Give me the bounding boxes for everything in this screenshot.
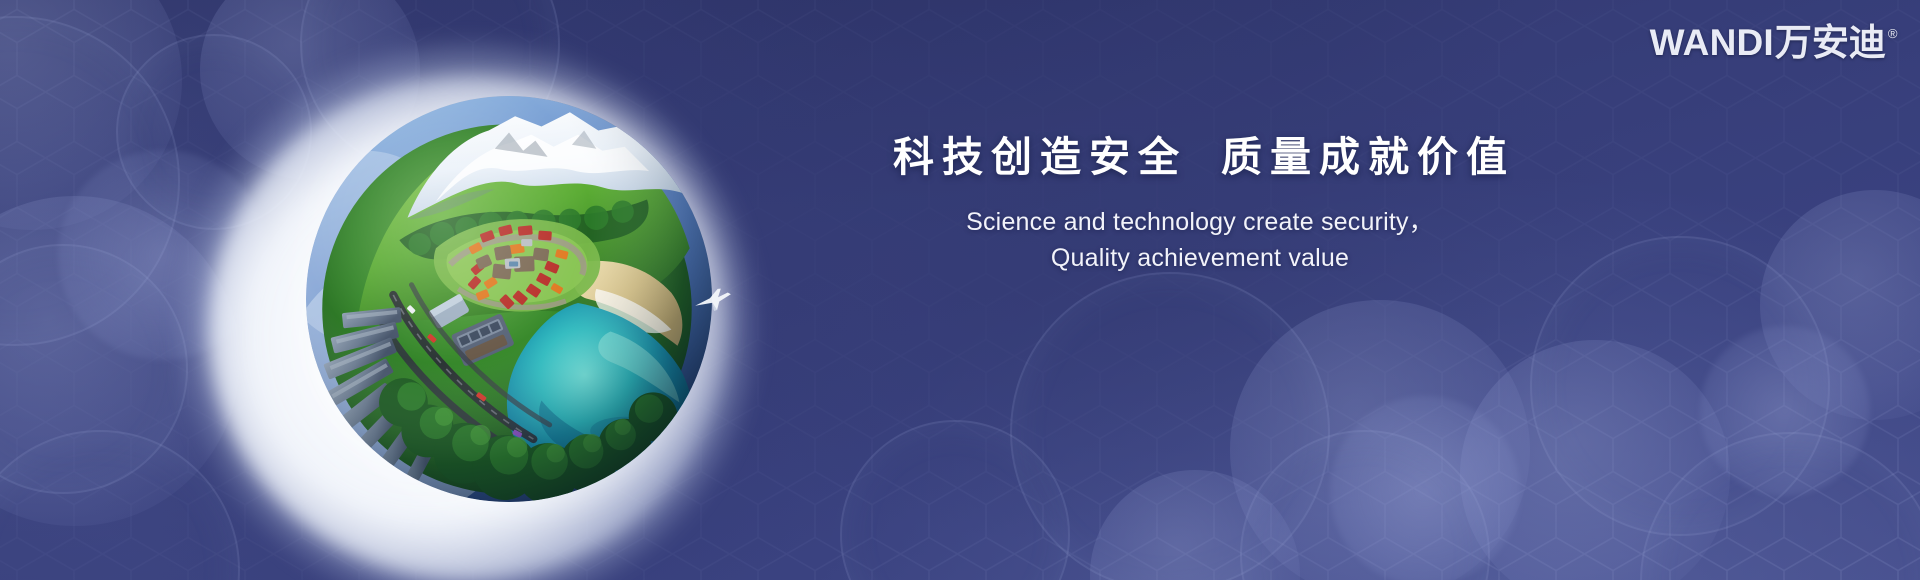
logo-cjk-text: 万安迪 bbox=[1775, 24, 1886, 62]
headline-chinese: 科技创造安全质量成就价值 bbox=[760, 128, 1640, 186]
banner-copy: 科技创造安全质量成就价值 Science and technology crea… bbox=[760, 128, 1640, 276]
brand-logo[interactable]: WANDI 万安迪 ® bbox=[1650, 24, 1898, 62]
globe-illustration bbox=[178, 28, 758, 580]
subtitle-line-2: Quality achievement value bbox=[760, 240, 1640, 276]
registered-trademark-icon: ® bbox=[1888, 27, 1898, 40]
logo-latin-text: WANDI bbox=[1650, 24, 1774, 62]
headline-part-1: 科技创造安全 bbox=[893, 134, 1187, 180]
tiny-planet-globe bbox=[306, 96, 712, 502]
subtitle-english: Science and technology create security， … bbox=[760, 204, 1640, 276]
promo-banner: WANDI 万安迪 ® 科技创造安全质量成就价值 Science and tec… bbox=[0, 0, 1920, 580]
headline-part-2: 质量成就价值 bbox=[1221, 134, 1515, 180]
subtitle-line-1: Science and technology create security， bbox=[760, 204, 1640, 240]
